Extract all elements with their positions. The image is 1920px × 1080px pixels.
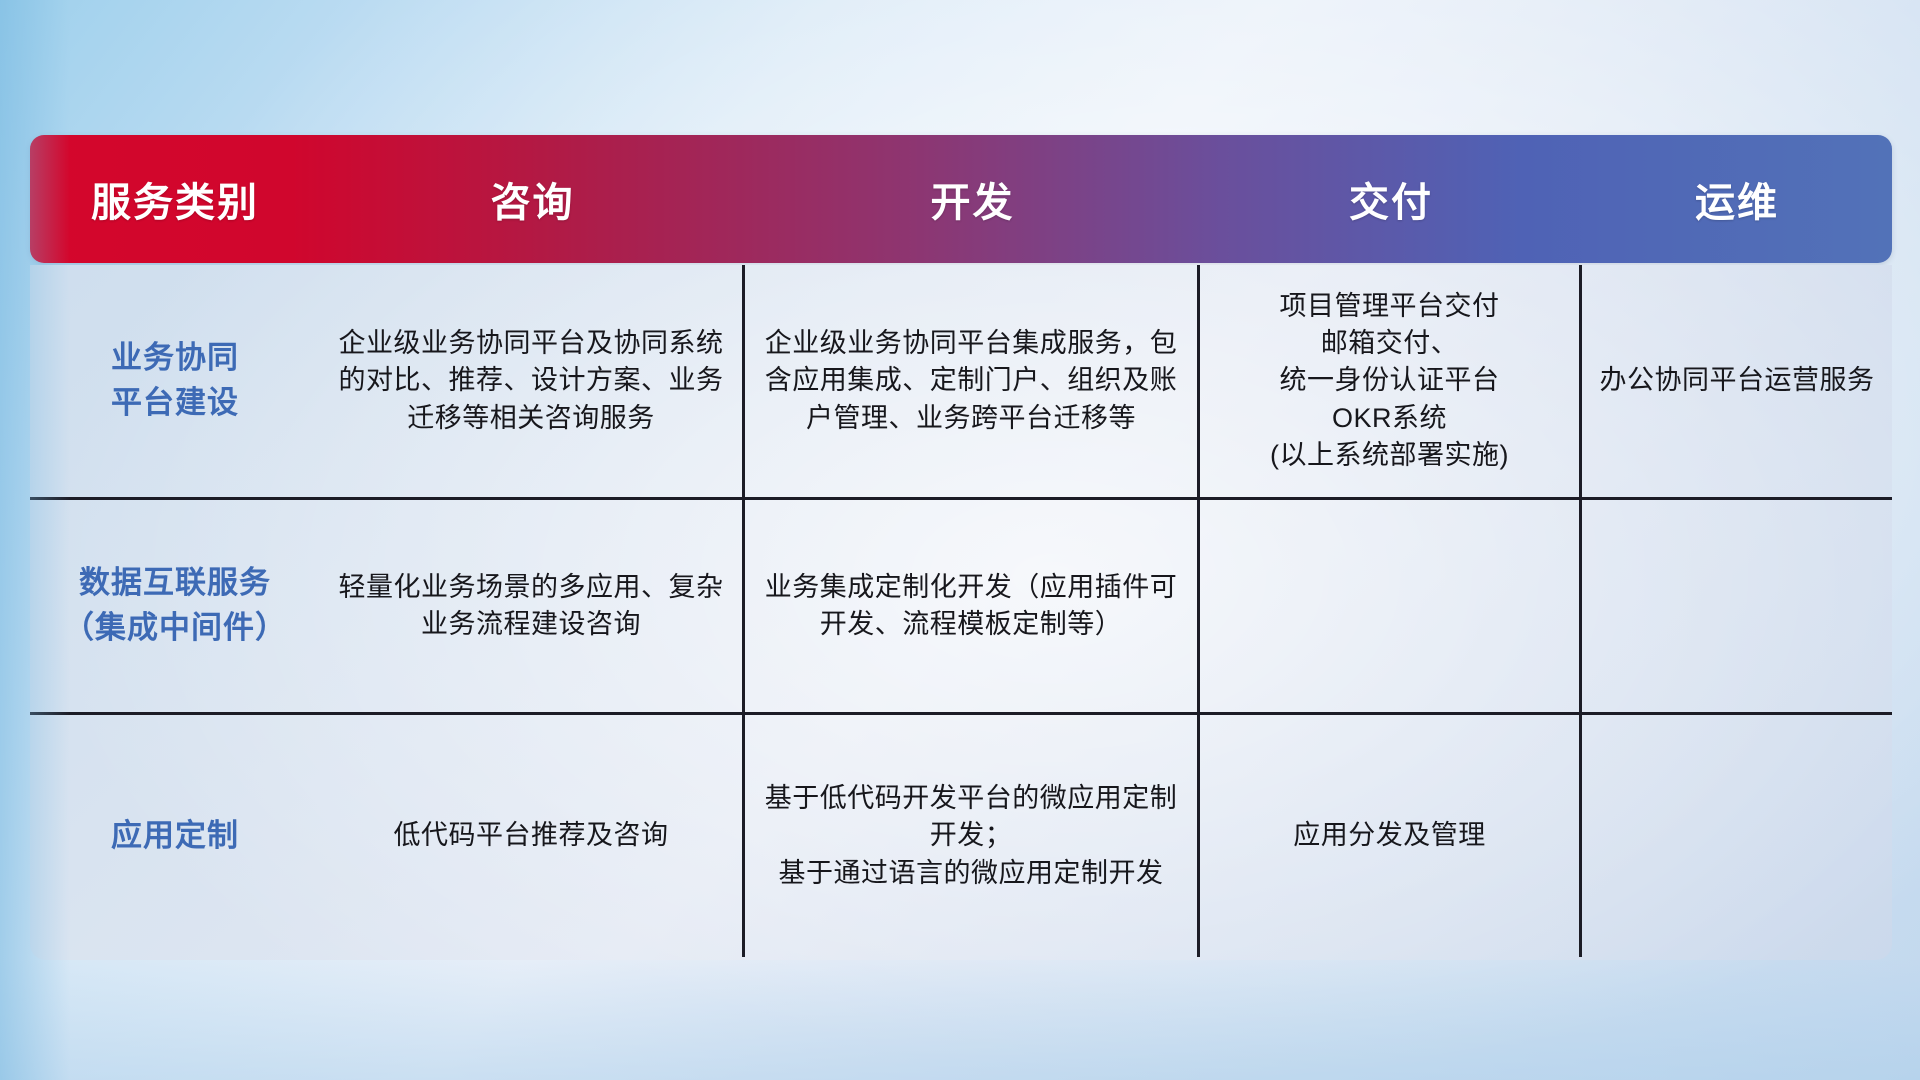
cell-category-1: 业务协同 平台建设 — [30, 265, 320, 497]
cell-delivery-1: 项目管理平台交付 邮箱交付、 统一身份认证平台 OKR系统 (以上系统部署实施) — [1200, 265, 1582, 497]
cell-consulting-2: 轻量化业务场景的多应用、复杂业务流程建设咨询 — [320, 500, 745, 712]
table-body: 业务协同 平台建设 企业级业务协同平台及协同系统的对比、推荐、设计方案、业务迁移… — [30, 265, 1892, 960]
cell-consulting-1: 企业级业务协同平台及协同系统的对比、推荐、设计方案、业务迁移等相关咨询服务 — [320, 265, 745, 497]
cell-operations-3 — [1582, 715, 1892, 957]
column-header-delivery: 交付 — [1200, 135, 1582, 263]
cell-development-3: 基于低代码开发平台的微应用定制开发； 基于通过语言的微应用定制开发 — [745, 715, 1200, 957]
table-row: 业务协同 平台建设 企业级业务协同平台及协同系统的对比、推荐、设计方案、业务迁移… — [30, 265, 1892, 497]
table-row: 应用定制 低代码平台推荐及咨询 基于低代码开发平台的微应用定制开发； 基于通过语… — [30, 712, 1892, 957]
cell-category-2: 数据互联服务 （集成中间件） — [30, 500, 320, 712]
column-header-category: 服务类别 — [30, 135, 320, 263]
slide-canvas: 服务类别 咨询 开发 交付 运维 业务协同 平台建设 企业级业务协同平台及协同系… — [0, 0, 1920, 1080]
column-header-development: 开发 — [745, 135, 1200, 263]
column-header-consulting: 咨询 — [320, 135, 745, 263]
cell-delivery-2 — [1200, 500, 1582, 712]
table-header-row: 服务类别 咨询 开发 交付 运维 — [30, 135, 1892, 263]
column-header-operations: 运维 — [1582, 135, 1892, 263]
cell-category-3: 应用定制 — [30, 715, 320, 957]
cell-operations-2 — [1582, 500, 1892, 712]
cell-operations-1: 办公协同平台运营服务 — [1582, 265, 1892, 497]
cell-development-2: 业务集成定制化开发（应用插件可开发、流程模板定制等） — [745, 500, 1200, 712]
cell-consulting-3: 低代码平台推荐及咨询 — [320, 715, 745, 957]
cell-delivery-3: 应用分发及管理 — [1200, 715, 1582, 957]
table-row: 数据互联服务 （集成中间件） 轻量化业务场景的多应用、复杂业务流程建设咨询 业务… — [30, 497, 1892, 712]
cell-development-1: 企业级业务协同平台集成服务，包含应用集成、定制门户、组织及账户管理、业务跨平台迁… — [745, 265, 1200, 497]
service-matrix-table: 服务类别 咨询 开发 交付 运维 业务协同 平台建设 企业级业务协同平台及协同系… — [30, 135, 1892, 960]
